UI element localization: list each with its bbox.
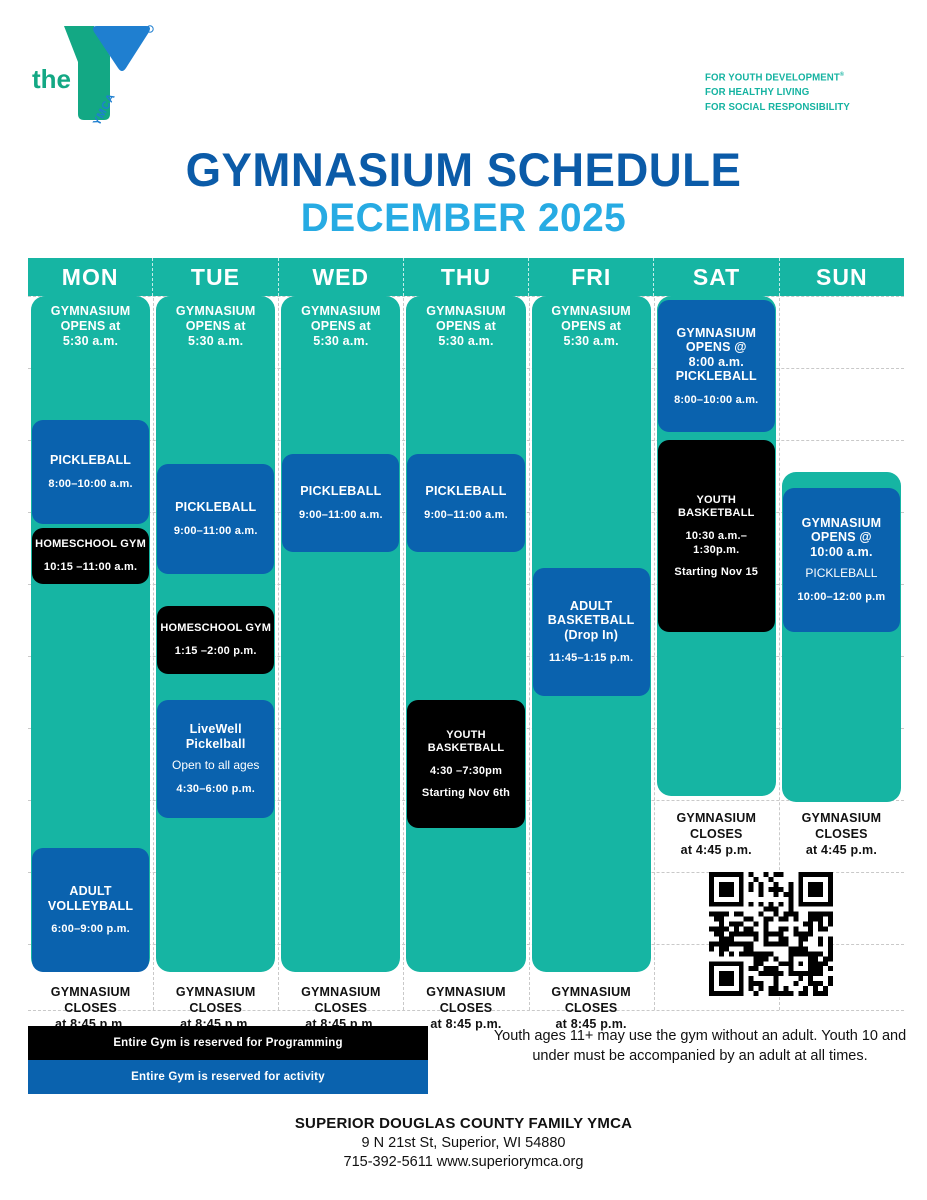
day-header-thu: THU (404, 258, 529, 296)
event-time: 10:30 a.m.–1:30p.m. (686, 529, 748, 557)
footer-org-name: SUPERIOR DOUGLAS COUNTY FAMILY YMCA (0, 1114, 927, 1134)
event-title: LiveWellPickelball (186, 722, 246, 751)
event-title: HOMESCHOOL GYM (160, 622, 271, 635)
gym-closes-text: GYMNASIUMCLOSESat 8:45 p.m. (153, 984, 278, 1032)
footer-contact: 715-392-5611 www.superiorymca.org (0, 1153, 927, 1172)
gym-opens-text: GYMNASIUMOPENS at5:30 a.m. (407, 304, 524, 349)
event-block[interactable]: HOMESCHOOL GYM10:15 –11:00 a.m. (32, 528, 149, 584)
event-time: 11:45–1:15 p.m. (549, 651, 633, 665)
day-header-row: MONTUEWEDTHUFRISATSUN (28, 258, 904, 296)
event-block[interactable]: PICKLEBALL8:00–10:00 a.m. (32, 420, 149, 524)
event-block[interactable]: ADULTVOLLEYBALL6:00–9:00 p.m. (32, 848, 149, 972)
tagline-line-2: FOR HEALTHY LIVING (705, 85, 889, 100)
youth-policy-note: Youth ages 11+ may use the gym without a… (490, 1026, 910, 1066)
event-title: YOUTHBASKETBALL (428, 729, 505, 755)
brand-tagline: FOR YOUTH DEVELOPMENT® FOR HEALTHY LIVIN… (705, 68, 905, 114)
page-subtitle: DECEMBER 2025 (14, 196, 913, 241)
legend-activity: Entire Gym is reserved for activity (28, 1060, 428, 1094)
event-title: PICKLEBALL (175, 500, 256, 515)
event-block[interactable]: PICKLEBALL9:00–11:00 a.m. (282, 454, 399, 552)
day-header-wed: WED (279, 258, 404, 296)
event-title: HOMESCHOOL GYM (35, 538, 146, 551)
gym-closes-text: GYMNASIUMCLOSESat 8:45 p.m. (529, 984, 654, 1032)
day-header-fri: FRI (529, 258, 654, 296)
event-title: GYMNASIUMOPENS @8:00 a.m.PICKLEBALL (676, 326, 757, 384)
event-block[interactable]: HOMESCHOOL GYM1:15 –2:00 p.m. (157, 606, 274, 674)
gym-opens-text: GYMNASIUMOPENS at5:30 a.m. (282, 304, 399, 349)
event-block[interactable]: GYMNASIUMOPENS @8:00 a.m.PICKLEBALL8:00–… (658, 300, 775, 432)
day-column-fri: GYMNASIUMOPENS at5:30 a.m.ADULTBASKETBAL… (529, 296, 654, 1010)
gym-closes-text: GYMNASIUMCLOSESat 4:45 p.m. (779, 810, 904, 858)
event-time: 10:15 –11:00 a.m. (44, 560, 137, 574)
event-time: 10:00–12:00 p.m (797, 590, 885, 604)
event-time: 9:00–11:00 a.m. (299, 508, 383, 522)
day-column-mon: GYMNASIUMOPENS at5:30 a.m.PICKLEBALL8:00… (28, 296, 153, 1010)
tagline-line-3: FOR SOCIAL RESPONSIBILITY (705, 100, 889, 115)
day-column-thu: GYMNASIUMOPENS at5:30 a.m.PICKLEBALL9:00… (403, 296, 528, 1010)
gym-closes-text: GYMNASIUMCLOSESat 8:45 p.m. (403, 984, 528, 1032)
event-title: PICKLEBALL (50, 453, 131, 468)
logo-the-text: the (32, 64, 71, 94)
event-block[interactable]: PICKLEBALL9:00–11:00 a.m. (407, 454, 524, 552)
legend-programming: Entire Gym is reserved for Programming (28, 1026, 428, 1060)
footer-address: 9 N 21st St, Superior, WI 54880 (0, 1134, 927, 1153)
event-time: 6:00–9:00 p.m. (51, 922, 130, 936)
gym-opens-text: GYMNASIUMOPENS at5:30 a.m. (533, 304, 650, 349)
event-time: 1:15 –2:00 p.m. (175, 644, 257, 658)
event-time: 9:00–11:00 a.m. (174, 524, 258, 538)
gym-closes-text: GYMNASIUMCLOSESat 8:45 p.m. (28, 984, 153, 1032)
event-time: 8:00–10:00 a.m. (48, 477, 132, 491)
event-title: PICKLEBALL (300, 484, 381, 499)
day-header-mon: MON (28, 258, 153, 296)
event-time: 9:00–11:00 a.m. (424, 508, 508, 522)
page-title: GYMNASIUM SCHEDULE (14, 142, 913, 197)
event-block[interactable]: YOUTHBASKETBALL4:30 –7:30pmStarting Nov … (407, 700, 524, 828)
event-note: Open to all ages (172, 758, 259, 773)
day-column-tue: GYMNASIUMOPENS at5:30 a.m.PICKLEBALL9:00… (153, 296, 278, 1010)
footer: SUPERIOR DOUGLAS COUNTY FAMILY YMCA 9 N … (0, 1114, 927, 1172)
day-header-tue: TUE (153, 258, 278, 296)
event-time: 4:30 –7:30pm (430, 764, 502, 778)
day-open-bar (406, 296, 525, 972)
event-time: 8:00–10:00 a.m. (674, 393, 758, 407)
registered-mark-icon: ® (840, 72, 844, 78)
event-block[interactable]: PICKLEBALL9:00–11:00 a.m. (157, 464, 274, 574)
gymnasium-schedule-flyer: the YMCA FOR YOUTH DEVELOPMENT® FOR HEAL… (0, 0, 927, 1200)
event-block[interactable]: YOUTHBASKETBALL10:30 a.m.–1:30p.m.Starti… (658, 440, 775, 632)
gym-closes-text: GYMNASIUMCLOSESat 4:45 p.m. (654, 810, 779, 858)
event-block[interactable]: GYMNASIUMOPENS @10:00 a.m.PICKLEBALL10:0… (783, 488, 900, 632)
gym-opens-text: GYMNASIUMOPENS at5:30 a.m. (157, 304, 274, 349)
ymca-logo-icon: the YMCA (22, 16, 162, 126)
event-start-note: Starting Nov 6th (422, 786, 510, 800)
event-title: ADULTBASKETBALL(Drop In) (548, 599, 635, 643)
qr-code[interactable] (709, 872, 833, 996)
ymca-logo: the YMCA (22, 16, 162, 126)
gym-opens-text: GYMNASIUMOPENS at5:30 a.m. (32, 304, 149, 349)
event-title: PICKLEBALL (425, 484, 506, 499)
day-header-sat: SAT (654, 258, 779, 296)
day-header-sun: SUN (780, 258, 904, 296)
day-column-wed: GYMNASIUMOPENS at5:30 a.m.PICKLEBALL9:00… (278, 296, 403, 1010)
legend: Entire Gym is reserved for Programming E… (28, 1026, 428, 1094)
event-title: ADULTVOLLEYBALL (48, 884, 133, 913)
event-title: YOUTHBASKETBALL (678, 494, 755, 520)
gym-closes-text: GYMNASIUMCLOSESat 8:45 p.m. (278, 984, 403, 1032)
event-time: 4:30–6:00 p.m. (176, 782, 255, 796)
tagline-line-1: FOR YOUTH DEVELOPMENT® (705, 68, 889, 85)
event-block[interactable]: ADULTBASKETBALL(Drop In)11:45–1:15 p.m. (533, 568, 650, 696)
event-block[interactable]: LiveWellPickelballOpen to all ages4:30–6… (157, 700, 274, 818)
event-start-note: Starting Nov 15 (674, 565, 758, 579)
event-note: PICKLEBALL (805, 566, 877, 581)
event-title: GYMNASIUMOPENS @10:00 a.m. (802, 516, 882, 560)
day-open-bar (281, 296, 400, 972)
qr-code-icon (709, 872, 833, 996)
